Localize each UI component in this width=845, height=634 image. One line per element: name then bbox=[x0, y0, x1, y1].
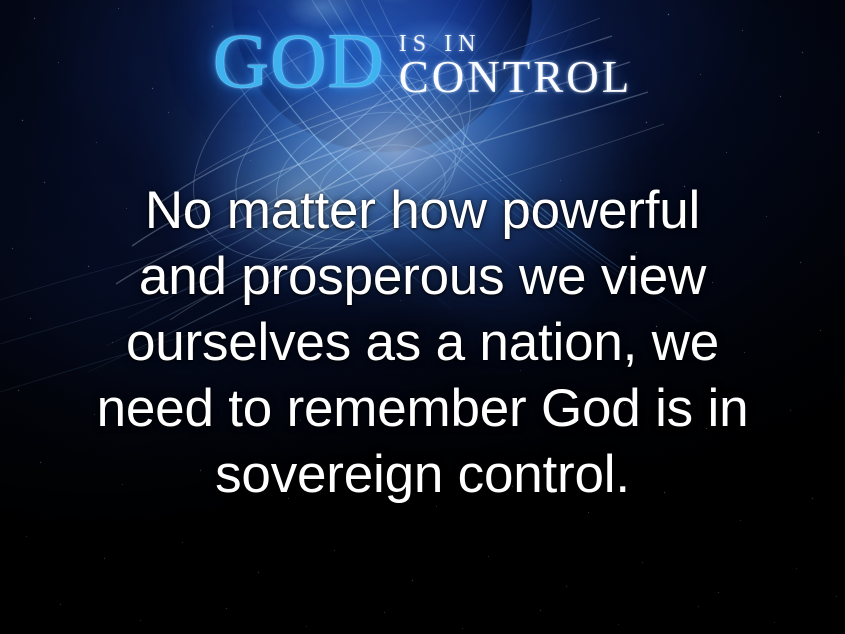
logo-word-god: GOD bbox=[213, 24, 385, 98]
quote-block: No matter how powerful and prosperous we… bbox=[0, 178, 845, 508]
logo-right-stack: IS IN CONTROL bbox=[399, 24, 633, 101]
quote-line: need to remember God is in bbox=[0, 376, 845, 442]
logo-word-control: CONTROL bbox=[399, 55, 633, 101]
logo-inner: GOD IS IN CONTROL bbox=[213, 24, 633, 101]
slide-content: GOD IS IN CONTROL No matter how powerful… bbox=[0, 0, 845, 634]
slide-canvas: GOD IS IN CONTROL No matter how powerful… bbox=[0, 0, 845, 634]
quote-line: ourselves as a nation, we bbox=[0, 310, 845, 376]
quote-line: and prosperous we view bbox=[0, 244, 845, 310]
quote-line: sovereign control. bbox=[0, 442, 845, 508]
quote-line: No matter how powerful bbox=[0, 178, 845, 244]
logo-lockup: GOD IS IN CONTROL bbox=[0, 24, 845, 120]
